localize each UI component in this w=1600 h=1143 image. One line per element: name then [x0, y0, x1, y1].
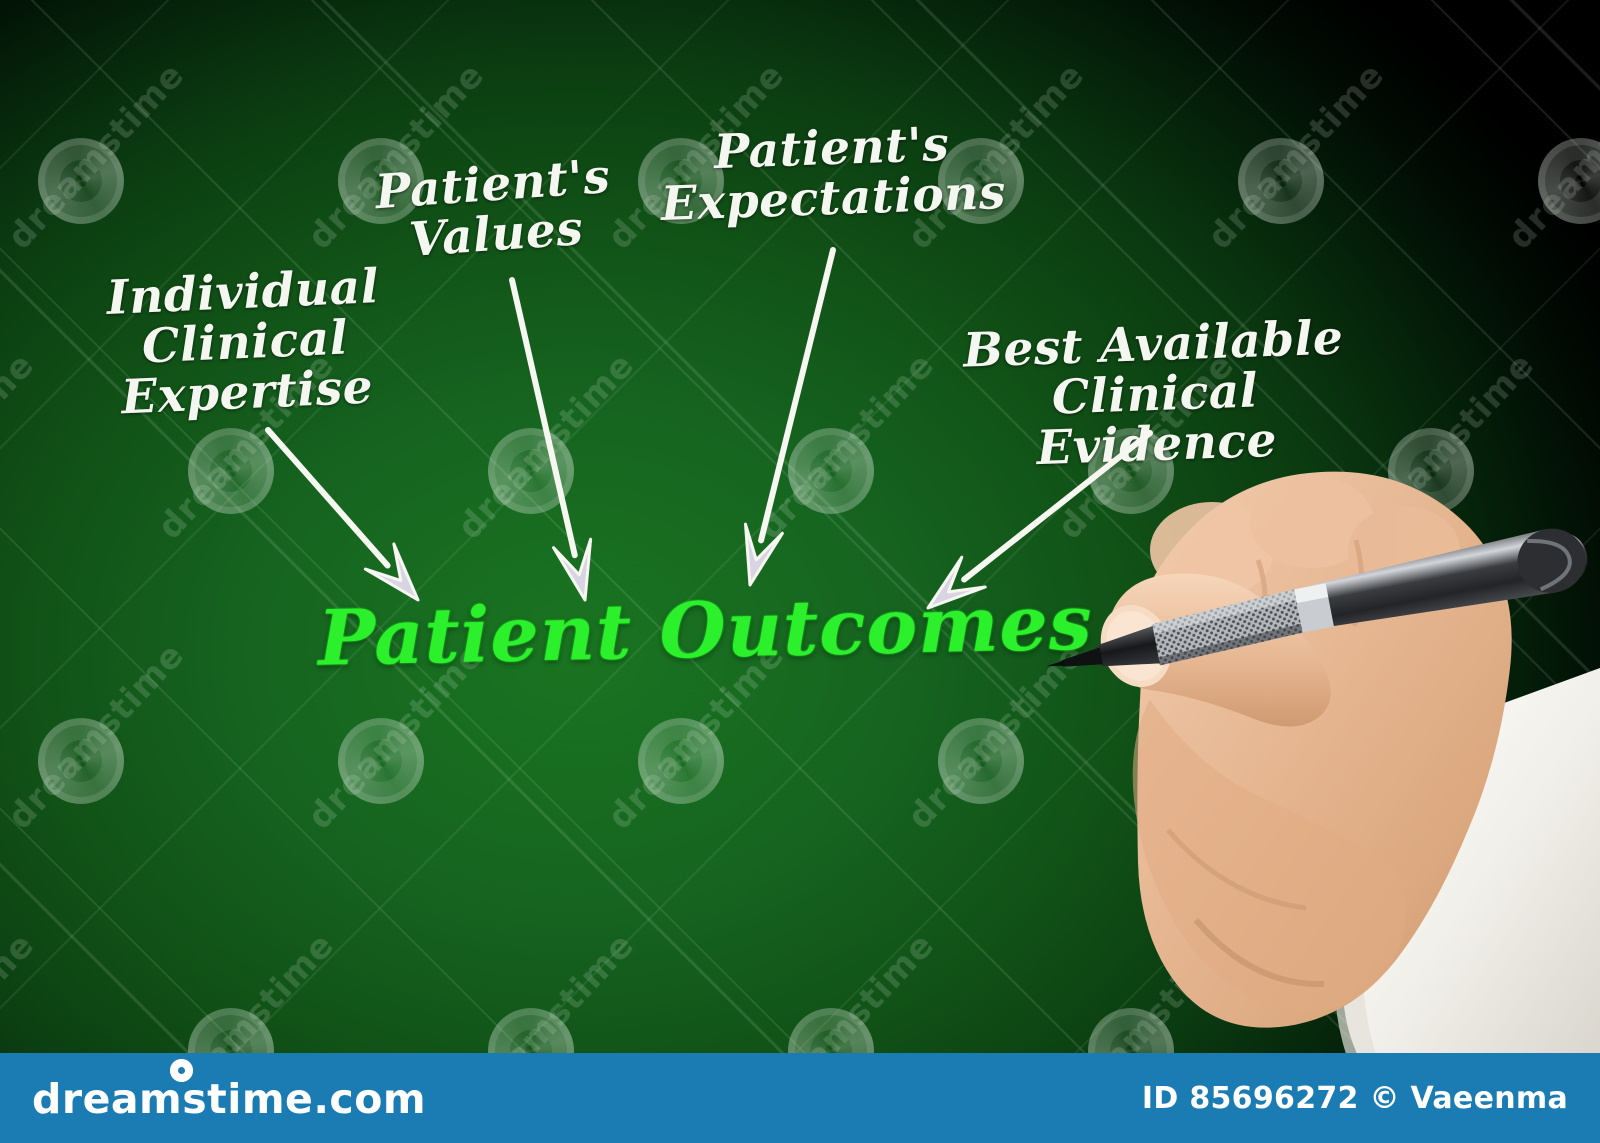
screenshot-root: dreamstimedreamstimedreamstimedreamstime… [0, 0, 1600, 1143]
hand-with-pen [1000, 400, 1600, 1053]
watermark-spiral-icon [488, 1008, 574, 1053]
watermark-spiral-icon [1538, 138, 1600, 224]
watermark-spiral-icon [188, 1008, 274, 1053]
watermark-text: dreamstime [450, 345, 642, 547]
watermark-spiral-icon [1238, 138, 1324, 224]
watermark-text: dreamstime [0, 635, 192, 837]
watermark-text: dreamstime [750, 345, 942, 547]
dreamstime-footer-bar: dreamstime.com ID 85696272 © Vaeenma [0, 1053, 1600, 1143]
watermark-text: dreamstime [0, 55, 192, 257]
dreamstime-logo-text[interactable]: dreamstime.com [32, 1075, 426, 1123]
watermark-text: dreamstime [750, 925, 942, 1053]
watermark-spiral-icon [338, 718, 424, 804]
watermark-text: dreamstime [1200, 55, 1392, 257]
label-individual-clinical-expertise: Individual Clinical Expertise [92, 262, 398, 424]
arrow-expertise-to-outcomes [268, 430, 418, 600]
label-patients-expectations: Patient's Expectations [653, 118, 1011, 230]
watermark-spiral-icon [38, 718, 124, 804]
arrow-values-to-outcomes [512, 280, 591, 600]
watermark-text: dreamstime [0, 925, 42, 1053]
watermark-spiral-icon [488, 428, 574, 514]
arrow-expectations-to-outcomes [746, 250, 833, 585]
watermark-spiral-icon [788, 428, 874, 514]
watermark-spiral-icon [38, 138, 124, 224]
watermark-text: dreamstime [1500, 55, 1600, 257]
headline-patient-outcomes: Patient Outcomes [317, 578, 1059, 682]
chalkboard-background: dreamstimedreamstimedreamstimedreamstime… [0, 0, 1600, 1053]
watermark-text: dreamstime [0, 345, 42, 547]
watermark-spiral-icon [788, 1008, 874, 1053]
watermark-spiral-icon [638, 718, 724, 804]
label-patients-values: Patient's Values [369, 152, 620, 268]
watermark-spiral-icon [188, 428, 274, 514]
watermark-text: dreamstime [450, 925, 642, 1053]
image-id-credit: ID 85696272 © Vaeenma [1142, 1081, 1568, 1116]
watermark-text: dreamstime [150, 925, 342, 1053]
spiral-logo-icon [170, 1059, 193, 1082]
